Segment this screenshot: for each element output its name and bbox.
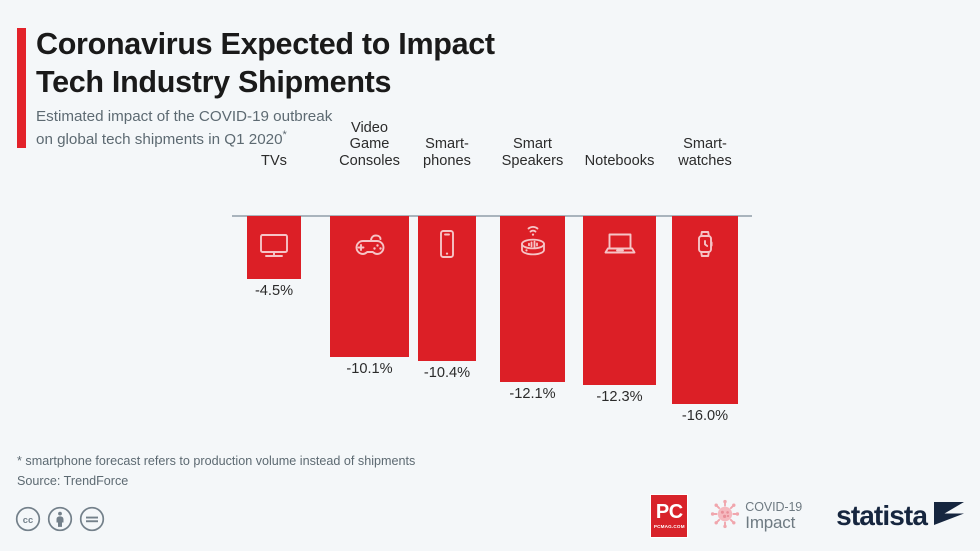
laptop-icon xyxy=(600,224,640,264)
footnote-note: * smartphone forecast refers to producti… xyxy=(17,452,415,472)
value-label-smart-speakers: -12.1% xyxy=(509,382,555,402)
covid-impact-text: COVID-19 Impact xyxy=(745,501,802,532)
smartphone-icon xyxy=(427,224,467,264)
smartwatch-icon xyxy=(685,224,725,264)
bar-smartwatches[interactable] xyxy=(672,216,738,404)
covid-line-1: COVID-19 xyxy=(745,501,802,514)
statista-logo[interactable]: statista xyxy=(836,500,966,532)
infographic-canvas: Coronavirus Expected to Impact Tech Indu… xyxy=(0,0,980,551)
category-label-notebooks: Notebooks xyxy=(585,153,655,172)
category-label-tvs: TVs xyxy=(261,153,287,172)
bar-tvs[interactable] xyxy=(247,216,301,279)
value-label-tvs: -4.5% xyxy=(255,279,293,299)
statista-mark-icon xyxy=(932,500,966,532)
footnotes: * smartphone forecast refers to producti… xyxy=(17,452,415,491)
pcmag-mark: PC xyxy=(656,503,683,522)
category-label-video-game-consoles: Video GameConsoles xyxy=(339,104,400,172)
footer-logos: PC PCMAG.COM xyxy=(650,494,966,538)
virus-icon xyxy=(710,499,740,534)
value-label-smartphones: -10.4% xyxy=(424,361,470,381)
cc-by-person-icon[interactable] xyxy=(47,506,73,532)
bar-video-game-consoles[interactable] xyxy=(330,216,409,357)
pcmag-logo[interactable]: PC PCMAG.COM xyxy=(650,494,688,538)
svg-text:cc: cc xyxy=(23,514,33,525)
category-label-smartwatches: Smart-watches xyxy=(678,120,732,172)
creative-commons-badges[interactable]: cc xyxy=(15,506,105,532)
footnote-source: Source: TrendForce xyxy=(17,472,415,492)
value-label-smartwatches: -16.0% xyxy=(682,404,728,424)
game-controller-icon xyxy=(350,224,390,264)
value-label-notebooks: -12.3% xyxy=(596,385,642,405)
bar-smart-speakers[interactable] xyxy=(500,216,565,382)
smart-speaker-icon xyxy=(513,220,553,264)
cc-icon[interactable]: cc xyxy=(15,506,41,532)
covid-line-2: Impact xyxy=(745,514,802,531)
value-label-video-game-consoles: -10.1% xyxy=(346,357,392,377)
statista-wordmark: statista xyxy=(836,502,927,530)
bar-smartphones[interactable] xyxy=(418,216,476,361)
category-label-smart-speakers: SmartSpeakers xyxy=(502,120,564,172)
category-label-smartphones: Smart-phones xyxy=(423,120,471,172)
bar-notebooks[interactable] xyxy=(583,216,656,385)
cc-nd-equals-icon[interactable] xyxy=(79,506,105,532)
pcmag-domain: PCMAG.COM xyxy=(654,524,685,529)
tv-icon xyxy=(254,224,294,264)
covid-impact-logo: COVID-19 Impact xyxy=(710,499,802,534)
